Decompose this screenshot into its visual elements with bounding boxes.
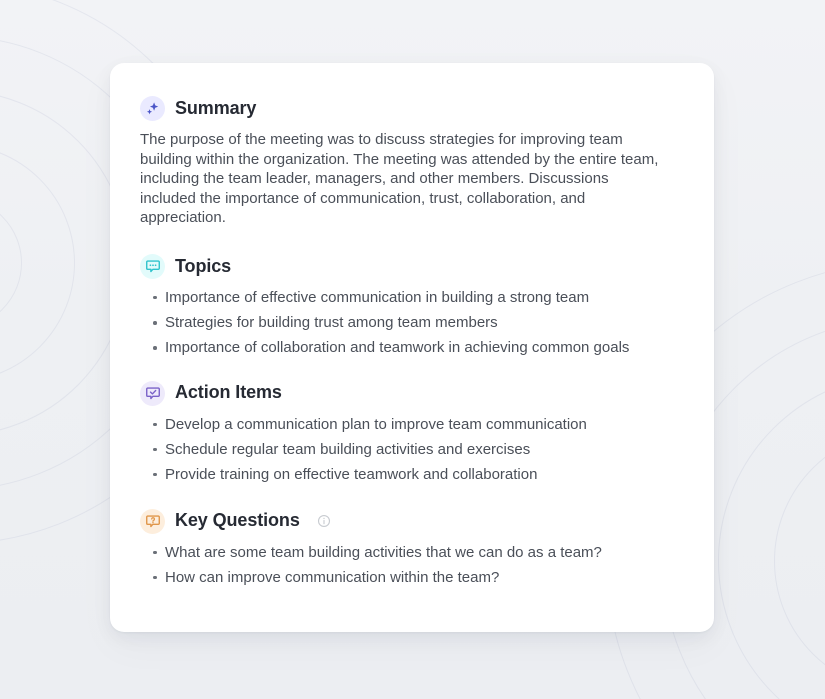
chat-bubble-check-icon bbox=[140, 381, 165, 406]
section-title-key-questions: Key Questions bbox=[175, 510, 300, 532]
sparkle-icon bbox=[140, 96, 165, 121]
section-header-action-items: Action Items bbox=[140, 381, 682, 406]
section-header-summary: Summary bbox=[140, 96, 682, 121]
key-questions-list: What are some team building activities t… bbox=[140, 543, 682, 588]
list-item: Provide training on effective teamwork a… bbox=[140, 465, 682, 485]
section-title-summary: Summary bbox=[175, 98, 256, 120]
section-key-questions: Key Questions What are some team buildin… bbox=[140, 509, 682, 588]
section-header-topics: Topics bbox=[140, 254, 682, 279]
section-header-key-questions: Key Questions bbox=[140, 509, 682, 534]
section-title-action-items: Action Items bbox=[175, 382, 282, 404]
list-item: What are some team building activities t… bbox=[140, 543, 682, 563]
list-item: Schedule regular team building activitie… bbox=[140, 440, 682, 460]
section-title-topics: Topics bbox=[175, 256, 231, 278]
summary-paragraph: The purpose of the meeting was to discus… bbox=[140, 130, 662, 228]
meeting-notes-card: Summary The purpose of the meeting was t… bbox=[110, 63, 714, 632]
list-item: Importance of collaboration and teamwork… bbox=[140, 338, 682, 358]
info-circle-icon[interactable] bbox=[317, 514, 331, 528]
chat-bubble-question-icon bbox=[140, 509, 165, 534]
section-summary: Summary The purpose of the meeting was t… bbox=[140, 96, 682, 228]
list-item: How can improve communication within the… bbox=[140, 568, 682, 588]
list-item: Strategies for building trust among team… bbox=[140, 313, 682, 333]
list-item: Importance of effective communication in… bbox=[140, 288, 682, 308]
action-items-list: Develop a communication plan to improve … bbox=[140, 415, 682, 485]
section-action-items: Action Items Develop a communication pla… bbox=[140, 381, 682, 485]
section-topics: Topics Importance of effective communica… bbox=[140, 254, 682, 358]
topics-list: Importance of effective communication in… bbox=[140, 288, 682, 358]
list-item: Develop a communication plan to improve … bbox=[140, 415, 682, 435]
chat-bubble-dots-icon bbox=[140, 254, 165, 279]
